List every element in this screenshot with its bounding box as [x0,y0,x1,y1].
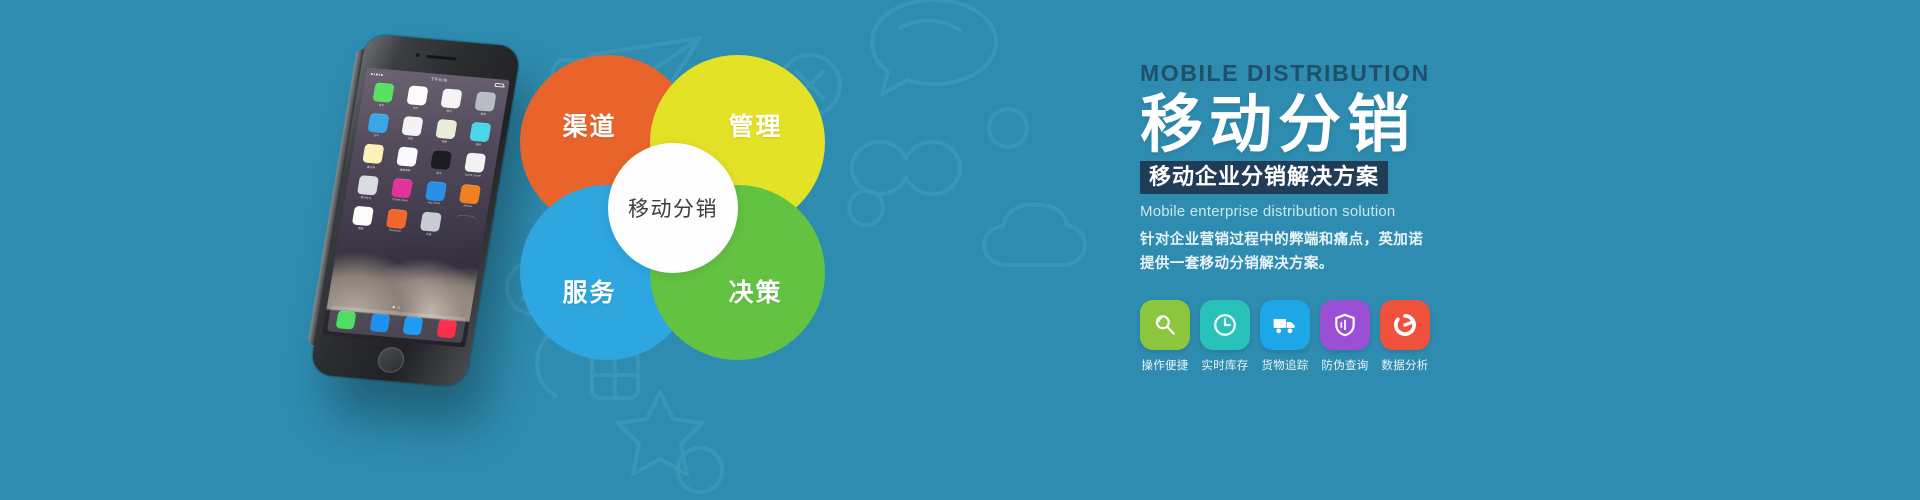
app-glyph [474,91,496,111]
app-label: iTunes Store [385,197,414,202]
battery-icon [494,83,504,88]
description-text: 针对企业营销过程中的弊端和痛点，英加诺 提供一套移动分销解决方案。 [1140,229,1470,276]
app-icon[interactable]: App Store [419,180,452,206]
venn-label-management: 管理 [728,107,782,143]
dock-app-icon[interactable] [335,310,356,329]
iphone-device: 下午6:08 信息日历照片相机天气时钟地图视频备忘录提醒事项股市Game Cen… [310,34,522,388]
app-label: 地图 [429,139,459,145]
app-icon[interactable]: 健康 [346,205,379,231]
app-icon[interactable]: 日历 [401,85,434,111]
app-glyph [435,119,457,139]
app-glyph [425,181,447,201]
app-icon[interactable]: 照片 [435,88,468,114]
magnifier-icon[interactable] [1140,300,1190,350]
app-glyph [454,214,476,234]
venn-center-label: 移动分销 [608,143,738,273]
app-label: 相机 [469,111,499,117]
app-icon[interactable]: 地图 [429,119,462,145]
app-grid: 信息日历照片相机天气时钟地图视频备忘录提醒事项股市Game Center报刊杂志… [346,82,501,240]
description-line-2: 提供一套移动分销解决方案。 [1140,253,1470,276]
app-icon[interactable]: 信息 [367,82,400,108]
app-icon[interactable]: 设置 [414,211,447,237]
app-glyph [406,85,428,105]
description-line-1: 针对企业营销过程中的弊端和痛点，英加诺 [1140,229,1470,252]
app-label: 日历 [401,105,431,111]
app-label: 时钟 [395,136,425,142]
app-glyph [391,178,413,198]
app-label: iBooks [453,203,482,208]
feature-item[interactable]: 货物追踪 [1260,300,1310,373]
dock-app-icon[interactable] [369,313,390,332]
app-icon[interactable]: 相机 [469,91,502,117]
truck-icon[interactable] [1260,300,1310,350]
venn-label-decision: 决策 [728,273,782,309]
feature-label: 操作便捷 [1140,357,1190,373]
app-glyph [437,319,458,338]
app-glyph [362,144,384,164]
app-glyph [420,211,442,231]
app-glyph [440,88,462,108]
app-glyph [403,316,424,335]
feature-label: 实时库存 [1200,357,1250,373]
app-label: 股市 [424,169,454,175]
app-label: 天气 [361,133,391,139]
app-icon[interactable]: iTunes Store [385,177,418,203]
feature-label: 数据分析 [1380,357,1430,373]
app-glyph [367,113,389,133]
app-icon[interactable]: 提醒事项 [390,146,423,172]
app-icon[interactable]: 时钟 [395,116,428,142]
donut-icon[interactable] [1380,300,1430,350]
subtitle-badge: 移动企业分销解决方案 [1140,161,1388,194]
feature-item[interactable]: 数据分析 [1380,300,1430,373]
app-glyph [352,205,374,225]
app-glyph [369,313,390,332]
shield-icon[interactable] [1320,300,1370,350]
dock-app-icon[interactable] [437,319,458,338]
app-glyph [469,122,491,142]
app-label: 信息 [367,102,397,108]
background-doodle-pattern [0,0,1920,500]
feature-item[interactable]: 防伪查询 [1320,300,1370,373]
app-label: 视频 [463,142,493,148]
app-label: 报刊杂志 [351,194,381,200]
app-icon[interactable]: Passbook [380,208,413,234]
app-label: 照片 [435,108,465,114]
page-title: 移动分销 [1140,93,1470,157]
phone-mockup: 下午6:08 信息日历照片相机天气时钟地图视频备忘录提醒事项股市Game Cen… [318,20,538,490]
promo-banner: 下午6:08 信息日历照片相机天气时钟地图视频备忘录提醒事项股市Game Cen… [0,0,1920,500]
feature-icon-row: 操作便捷实时库存货物追踪防伪查询数据分析 [1140,300,1430,373]
feature-label: 防伪查询 [1320,357,1370,373]
app-glyph [386,208,408,228]
app-icon[interactable] [448,214,481,240]
app-glyph [396,147,418,167]
feature-item[interactable]: 操作便捷 [1140,300,1190,373]
app-icon[interactable]: 天气 [361,113,394,139]
copy-block: MOBILE DISTRIBUTION 移动分销 移动企业分销解决方案 Mobi… [1140,62,1470,276]
app-label: App Store [419,200,448,205]
app-icon[interactable]: 视频 [463,122,496,148]
venn-label-service: 服务 [562,273,616,309]
status-time: 下午6:08 [430,76,448,83]
app-label [449,234,478,237]
app-glyph [401,116,423,136]
venn-diagram: 渠道 管理 服务 决策 移动分销 [520,55,820,365]
app-icon[interactable]: 备忘录 [356,144,389,170]
subtitle-english: Mobile enterprise distribution solution [1140,203,1470,220]
app-glyph [335,310,356,329]
app-icon[interactable]: Game Center [458,152,491,178]
app-icon[interactable]: 股市 [424,149,457,175]
app-glyph [357,175,379,195]
front-camera-icon [415,53,420,57]
dock-app-icon[interactable] [403,316,424,335]
feature-label: 货物追踪 [1260,357,1310,373]
app-glyph [464,153,486,173]
app-glyph [430,150,452,170]
eyebrow-text: MOBILE DISTRIBUTION [1140,62,1470,85]
signal-dots-icon [371,73,383,76]
app-icon[interactable]: 报刊杂志 [351,174,384,200]
venn-label-channel: 渠道 [562,107,616,143]
feature-item[interactable]: 实时库存 [1200,300,1250,373]
app-glyph [459,184,481,204]
clock-icon[interactable] [1200,300,1250,350]
app-icon[interactable]: iBooks [453,183,486,209]
app-label: Game Center [458,172,487,177]
app-label: 提醒事项 [390,166,420,172]
app-glyph [372,82,394,102]
app-label: 备忘录 [356,163,386,169]
